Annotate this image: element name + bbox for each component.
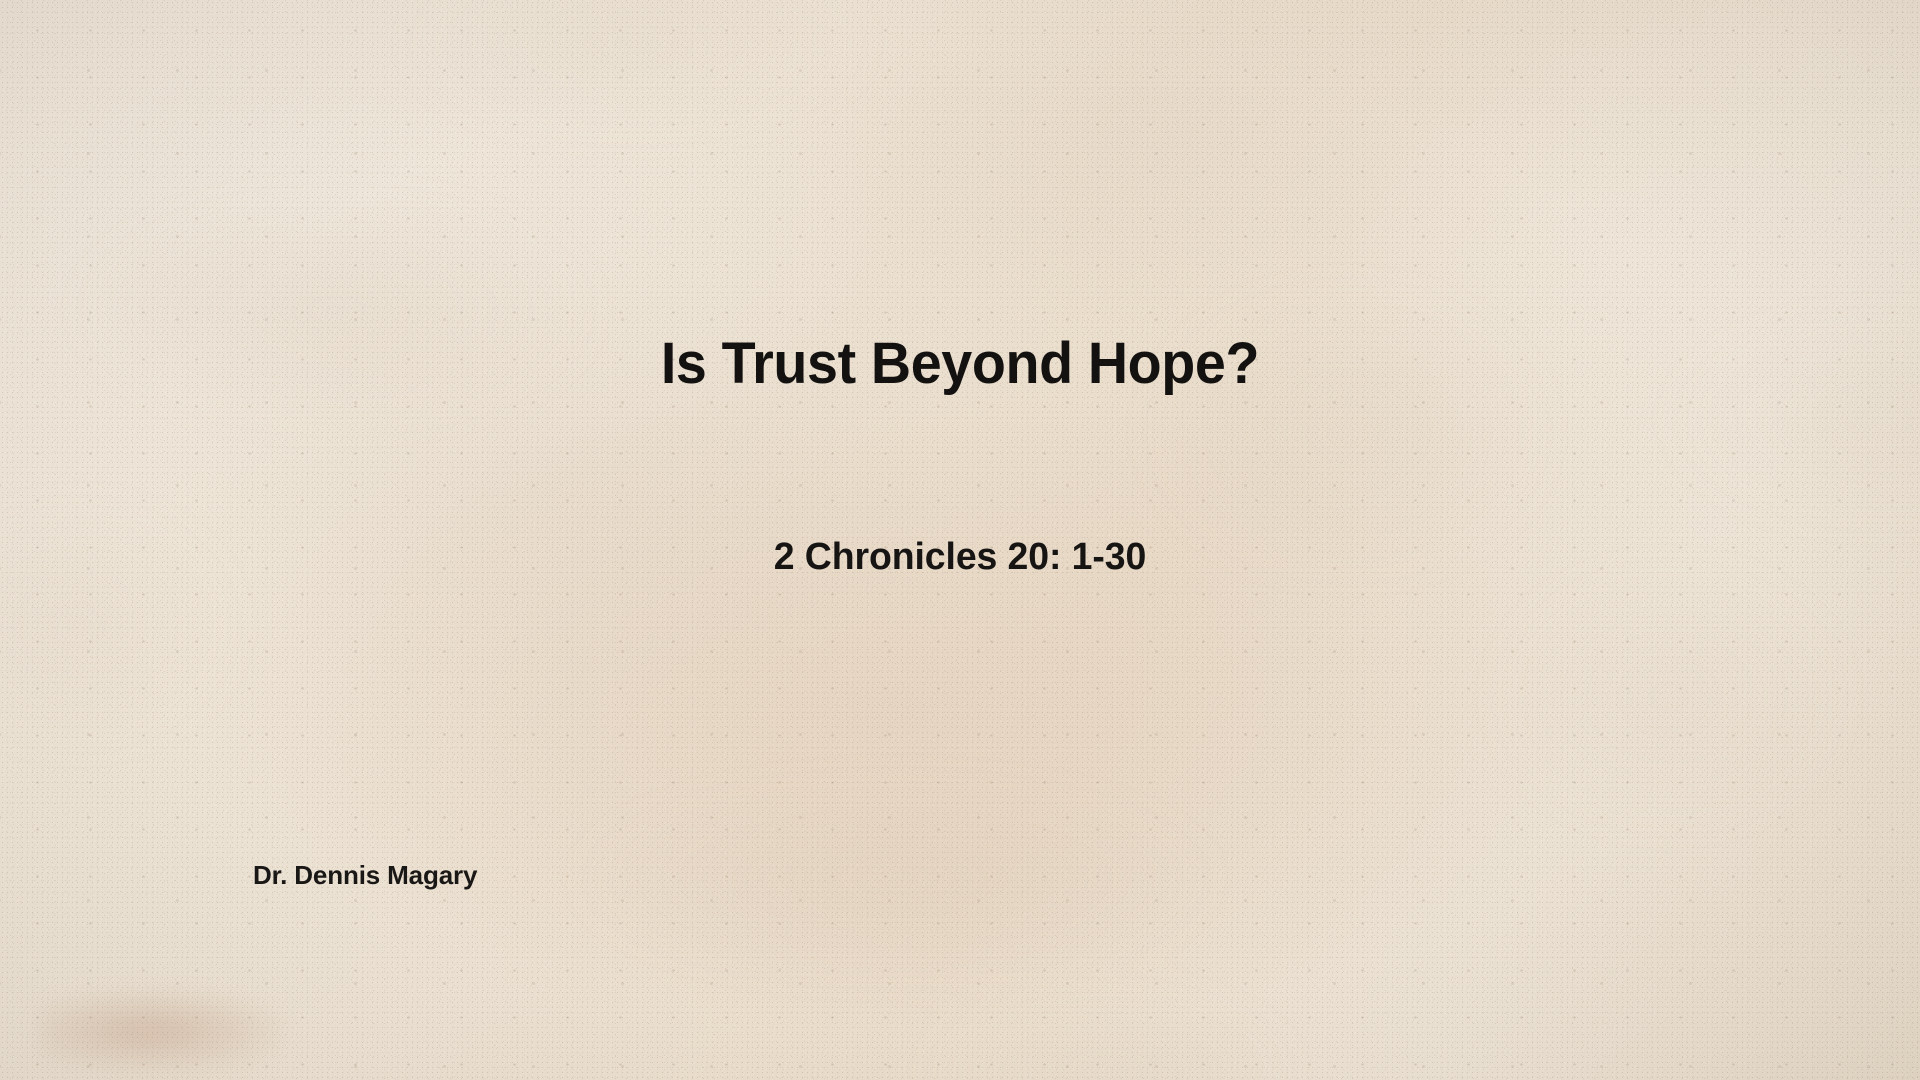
slide-title: Is Trust Beyond Hope? bbox=[38, 335, 1881, 393]
slide-author-name: Dr. Dennis Magary bbox=[253, 862, 477, 888]
slide-content: Is Trust Beyond Hope? 2 Chronicles 20: 1… bbox=[0, 0, 1920, 1080]
slide-scripture-reference: 2 Chronicles 20: 1-30 bbox=[14, 538, 1905, 576]
presentation-slide: Is Trust Beyond Hope? 2 Chronicles 20: 1… bbox=[0, 0, 1920, 1080]
